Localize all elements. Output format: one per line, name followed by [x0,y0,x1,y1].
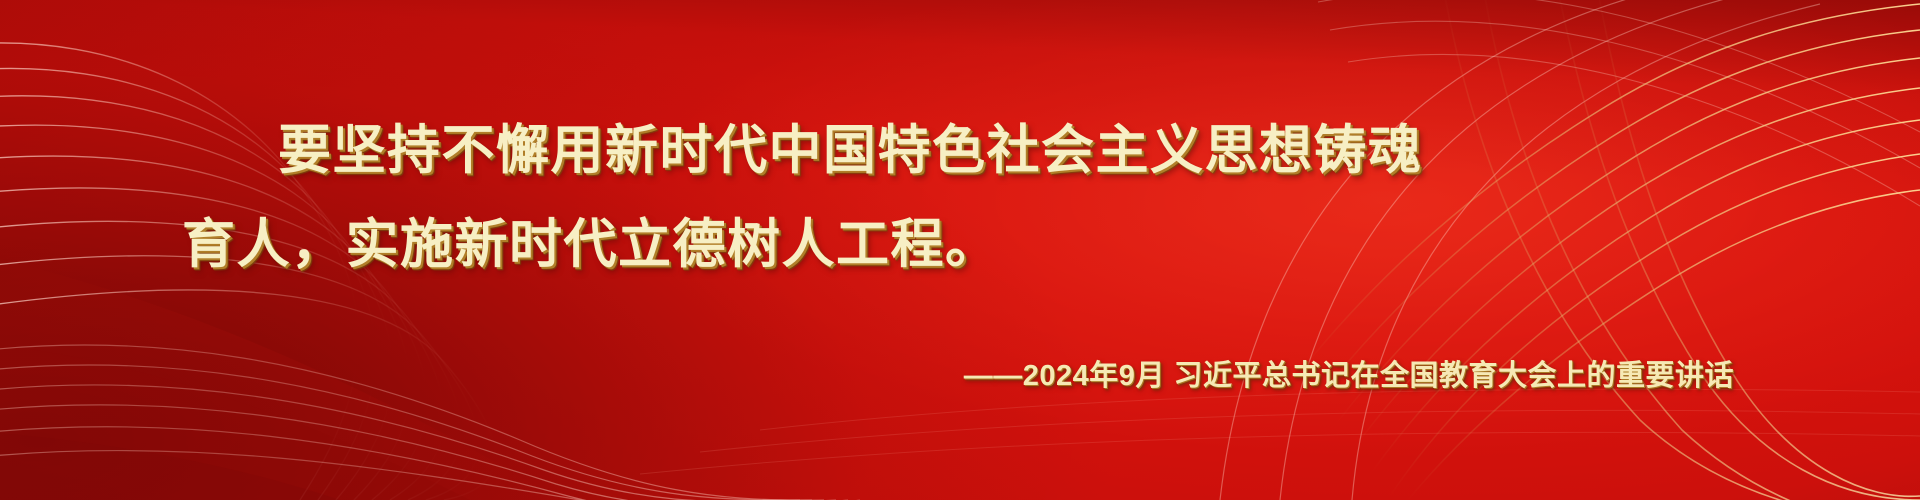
banner-root: 要坚持不懈用新时代中国特色社会主义思想铸魂 育人，实施新时代立德树人工程。 ——… [0,0,1920,500]
headline-line-1: 要坚持不懈用新时代中国特色社会主义思想铸魂 [96,104,1824,198]
banner-content: 要坚持不懈用新时代中国特色社会主义思想铸魂 育人，实施新时代立德树人工程。 ——… [0,0,1920,500]
headline: 要坚持不懈用新时代中国特色社会主义思想铸魂 育人，实施新时代立德树人工程。 [0,104,1920,292]
headline-line-2: 育人，实施新时代立德树人工程。 [96,198,1824,292]
attribution-source: ——2024年9月 习近平总书记在全国教育大会上的重要讲话 [964,356,1734,396]
